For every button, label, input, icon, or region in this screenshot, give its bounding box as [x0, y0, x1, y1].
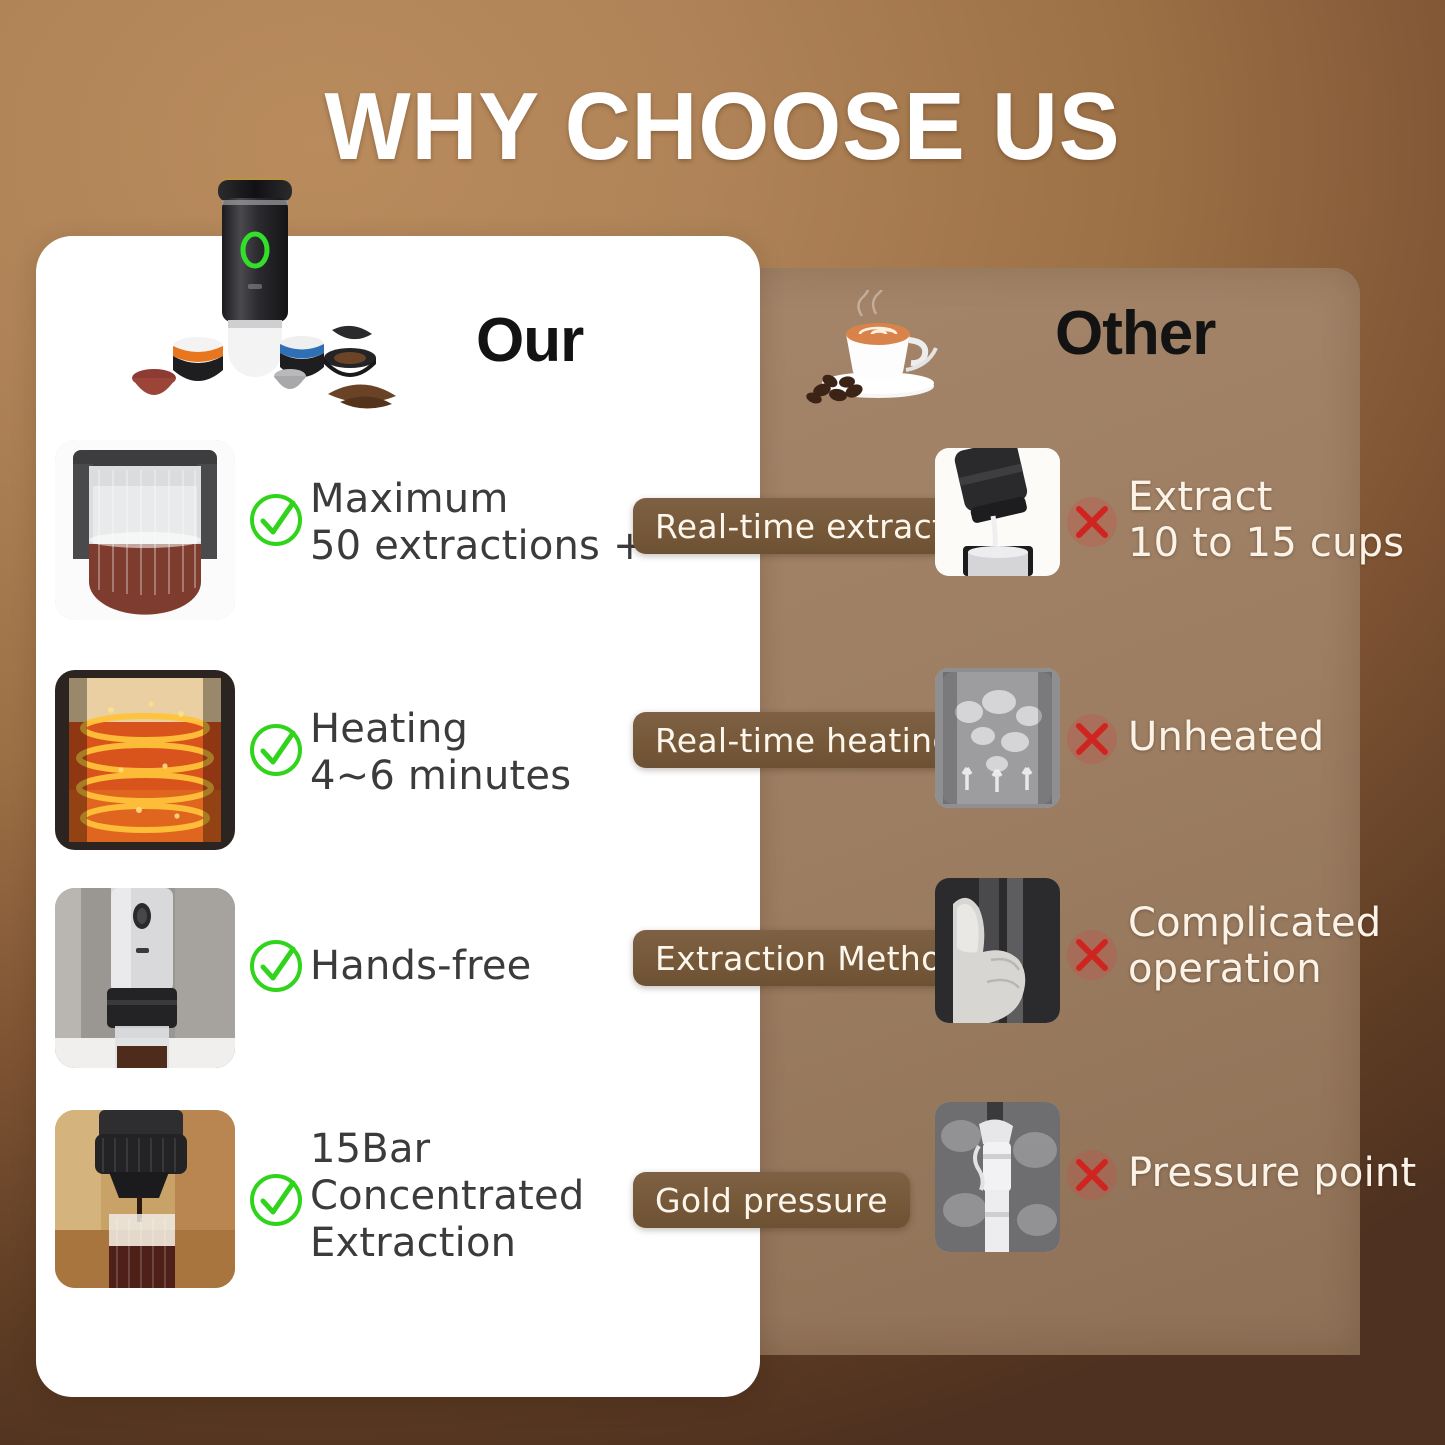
other-flaw-text: Complicated operation — [1128, 900, 1381, 992]
our-feature-text: Heating 4~6 minutes — [310, 706, 571, 800]
cold-water-grayscale-image — [935, 668, 1060, 808]
other-flaw-text: Unheated — [1128, 714, 1324, 760]
check-circle-icon — [248, 1172, 304, 1228]
heating-coil-thermal-image — [55, 670, 235, 850]
our-feature-text: Hands-free — [310, 943, 531, 990]
cross-circle-icon — [1065, 495, 1119, 549]
manual-pump-grayscale-image — [935, 1102, 1060, 1252]
portable-espresso-machine-image — [118, 162, 418, 414]
other-flaw-text: Pressure point — [1128, 1150, 1416, 1196]
row-badge: Real-time heating — [633, 712, 976, 768]
other-flaw-text: Extract 10 to 15 cups — [1128, 474, 1404, 566]
cross-circle-icon — [1065, 928, 1119, 982]
row-badge: Extraction Method — [633, 930, 985, 986]
espresso-extraction-closeup-image — [55, 1110, 235, 1288]
cross-circle-icon — [1065, 712, 1119, 766]
our-column-heading: Our — [476, 305, 583, 376]
check-circle-icon — [248, 492, 304, 548]
hand-pressing-grayscale-image — [935, 878, 1060, 1023]
black-machine-pouring-image — [935, 448, 1060, 576]
other-column-heading: Other — [1055, 298, 1215, 369]
latte-cup-with-beans-image — [790, 290, 970, 405]
row-badge: Gold pressure — [633, 1172, 910, 1228]
our-feature-text: 15Bar Concentrated Extraction — [310, 1126, 584, 1266]
silver-machine-handsfree-image — [55, 888, 235, 1068]
check-circle-icon — [248, 938, 304, 994]
cross-circle-icon — [1065, 1148, 1119, 1202]
check-circle-icon — [248, 722, 304, 778]
brewed-coffee-chamber-image — [55, 440, 235, 620]
our-feature-text: Maximum 50 extractions + — [310, 476, 647, 570]
